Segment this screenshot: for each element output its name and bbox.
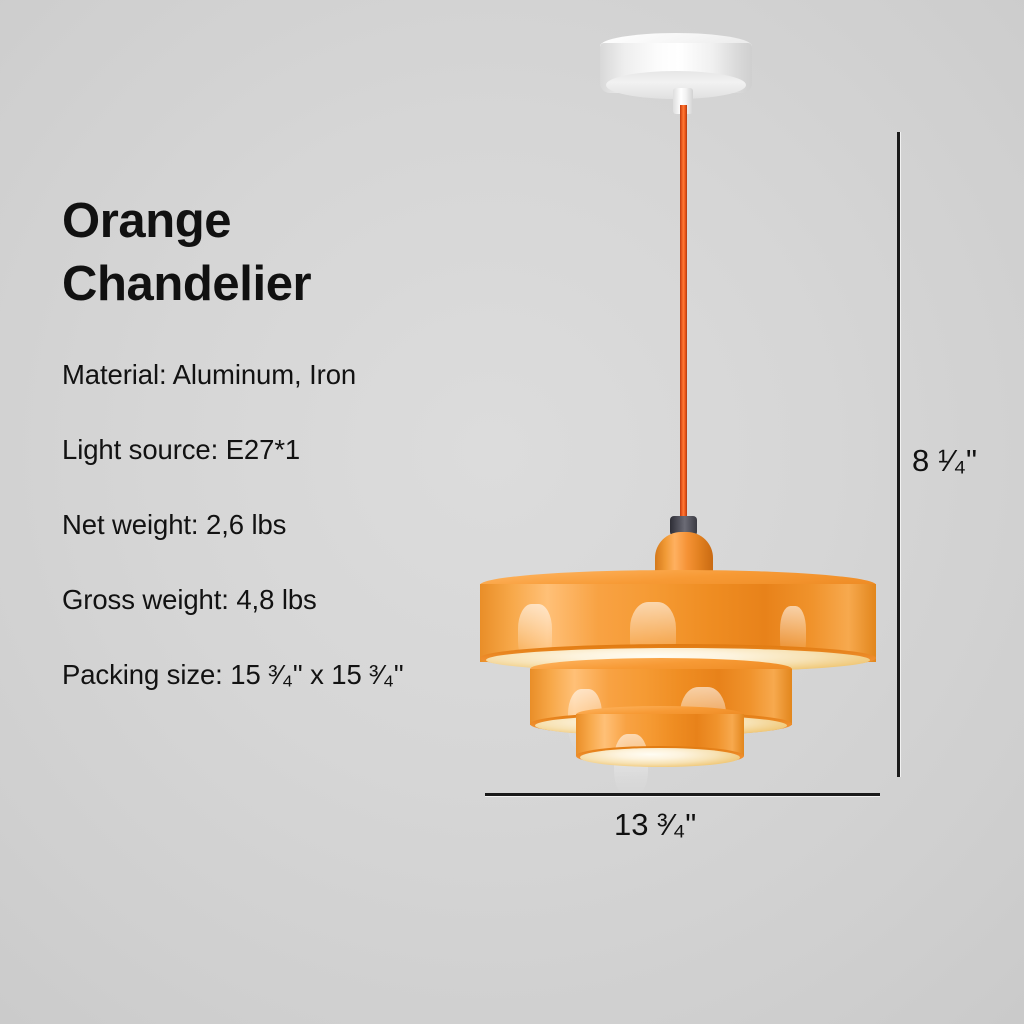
spec-light-source: Light source: E27*1 bbox=[62, 434, 532, 466]
spec-net-weight: Net weight: 2,6 lbs bbox=[62, 509, 532, 541]
product-infographic: Orange Chandelier Material: Aluminum, Ir… bbox=[0, 0, 1024, 1024]
height-dimension-label: 8 ¹⁄₄" bbox=[912, 443, 977, 479]
shade-bottom-tier bbox=[576, 706, 744, 772]
width-dimension-label: 13 ³⁄₄" bbox=[614, 807, 696, 843]
page-title: Orange Chandelier bbox=[62, 190, 532, 315]
spec-material: Material: Aluminum, Iron bbox=[62, 359, 532, 391]
bottom-tier-diffuser-glow bbox=[580, 748, 740, 767]
width-dimension-line bbox=[485, 793, 880, 797]
spec-gross-weight: Gross weight: 4,8 lbs bbox=[62, 584, 532, 616]
spec-packing-size: Packing size: 15 ³⁄₄" x 15 ³⁄₄" bbox=[62, 659, 532, 691]
height-dimension-line bbox=[897, 132, 901, 777]
power-cord bbox=[680, 105, 687, 523]
product-info-panel: Orange Chandelier Material: Aluminum, Ir… bbox=[62, 190, 532, 691]
